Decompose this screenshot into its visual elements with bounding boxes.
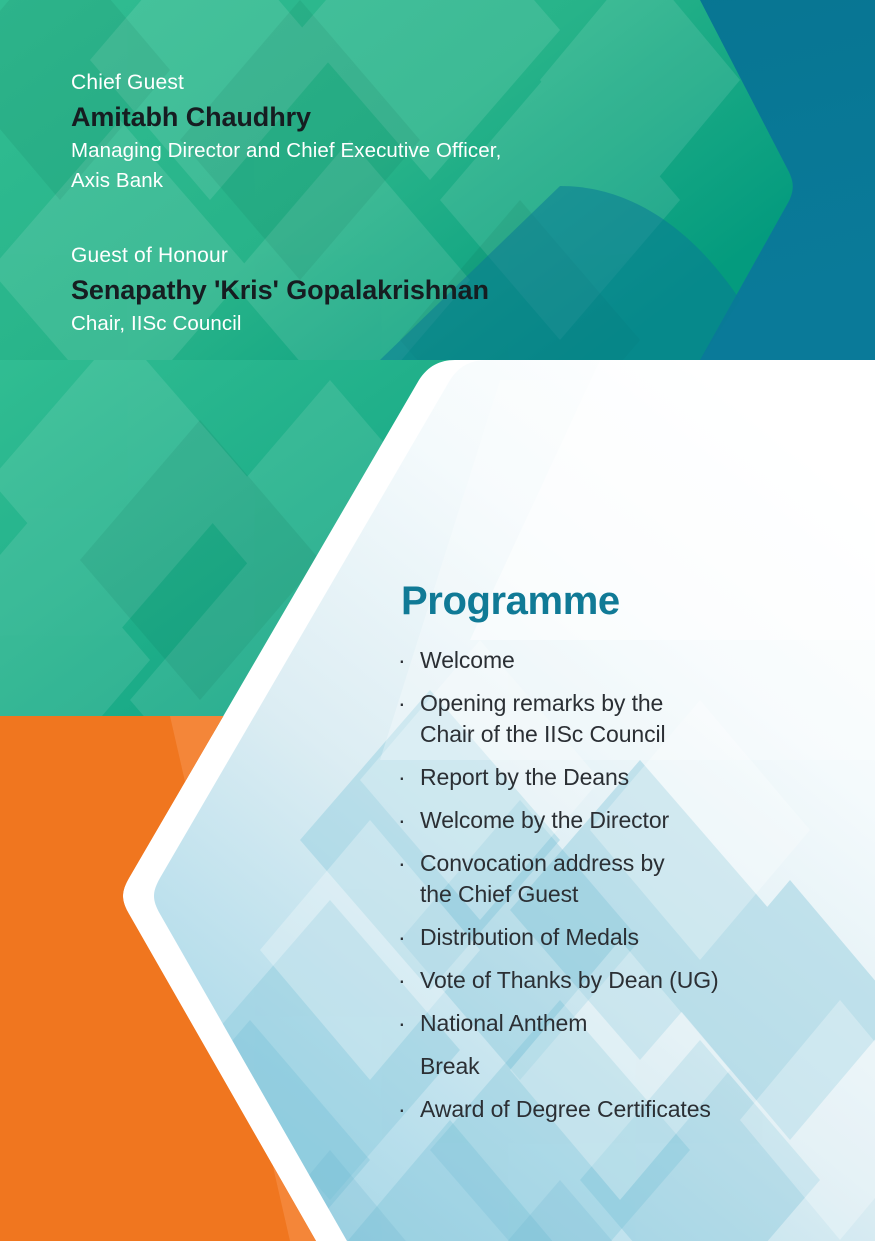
programme-item-text: Distribution of Medals <box>420 922 868 953</box>
programme-item-text: Convocation address by the Chief Guest <box>420 848 868 910</box>
bullet-icon: · <box>398 762 420 793</box>
programme-item-line-2: the Chief Guest <box>420 879 868 910</box>
guest-name: Amitabh Chaudhry <box>71 99 631 135</box>
programme-item: ·Opening remarks by theChair of the IISc… <box>398 688 868 750</box>
programme-item-text: Welcome by the Director <box>420 805 868 836</box>
programme-item: ·Break <box>398 1051 868 1082</box>
guest-list: Chief Guest Amitabh Chaudhry Managing Di… <box>71 68 631 338</box>
bullet-icon: · <box>398 805 420 836</box>
programme-item: ·National Anthem <box>398 1008 868 1039</box>
guest-affiliation-line-1: Chair, IISc Council <box>71 310 631 338</box>
guest-affiliation-line-2: Axis Bank <box>71 167 631 195</box>
bullet-icon: · <box>398 1008 420 1039</box>
convocation-poster: Chief Guest Amitabh Chaudhry Managing Di… <box>0 0 875 1241</box>
guest-role-label: Guest of Honour <box>71 241 631 271</box>
programme-item: ·Report by the Deans <box>398 762 868 793</box>
programme-item: ·Convocation address by the Chief Guest <box>398 848 868 910</box>
bullet-icon: · <box>398 965 420 996</box>
bullet-icon: · <box>398 922 420 953</box>
guest-name: Senapathy 'Kris' Gopalakrishnan <box>71 272 631 308</box>
programme-item-line-1: Welcome <box>420 647 515 673</box>
programme-item-text: National Anthem <box>420 1008 868 1039</box>
programme-item-line-1: Report by the Deans <box>420 764 629 790</box>
programme-item: ·Welcome by the Director <box>398 805 868 836</box>
programme-item-line-1: Award of Degree Certificates <box>420 1096 711 1122</box>
programme-item: ·Welcome <box>398 645 868 676</box>
bullet-icon: · <box>398 688 420 719</box>
programme-item-line-1: Vote of Thanks by Dean (UG) <box>420 967 719 993</box>
programme-item-text: Report by the Deans <box>420 762 868 793</box>
programme-item-list: ·Welcome·Opening remarks by theChair of … <box>398 645 868 1125</box>
programme-item-line-1: Opening remarks by the <box>420 690 663 716</box>
programme-item-line-2: Chair of the IISc Council <box>420 719 868 750</box>
programme-item-line-1: National Anthem <box>420 1010 587 1036</box>
guest-affiliation-line-1: Managing Director and Chief Executive Of… <box>71 137 631 165</box>
bullet-icon: · <box>398 848 420 879</box>
programme-section: Programme ·Welcome·Opening remarks by th… <box>398 575 868 1137</box>
guest-honour: Guest of Honour Senapathy 'Kris' Gopalak… <box>71 241 631 338</box>
bullet-spacer: · <box>398 1051 420 1082</box>
programme-item-line-1: Convocation address by <box>420 850 665 876</box>
programme-item-line-1: Break <box>420 1053 480 1079</box>
guest-role-label: Chief Guest <box>71 68 631 98</box>
programme-title: Programme <box>401 575 868 627</box>
programme-item-text: Vote of Thanks by Dean (UG) <box>420 965 868 996</box>
bullet-icon: · <box>398 645 420 676</box>
programme-item: ·Vote of Thanks by Dean (UG) <box>398 965 868 996</box>
guest-chief: Chief Guest Amitabh Chaudhry Managing Di… <box>71 68 631 195</box>
programme-item-line-1: Distribution of Medals <box>420 924 639 950</box>
bullet-icon: · <box>398 1094 420 1125</box>
programme-item-text: Break <box>420 1051 868 1082</box>
programme-item: ·Award of Degree Certificates <box>398 1094 868 1125</box>
programme-item: ·Distribution of Medals <box>398 922 868 953</box>
programme-item-text: Award of Degree Certificates <box>420 1094 868 1125</box>
programme-item-line-1: Welcome by the Director <box>420 807 669 833</box>
programme-item-text: Opening remarks by theChair of the IISc … <box>420 688 868 750</box>
programme-item-text: Welcome <box>420 645 868 676</box>
